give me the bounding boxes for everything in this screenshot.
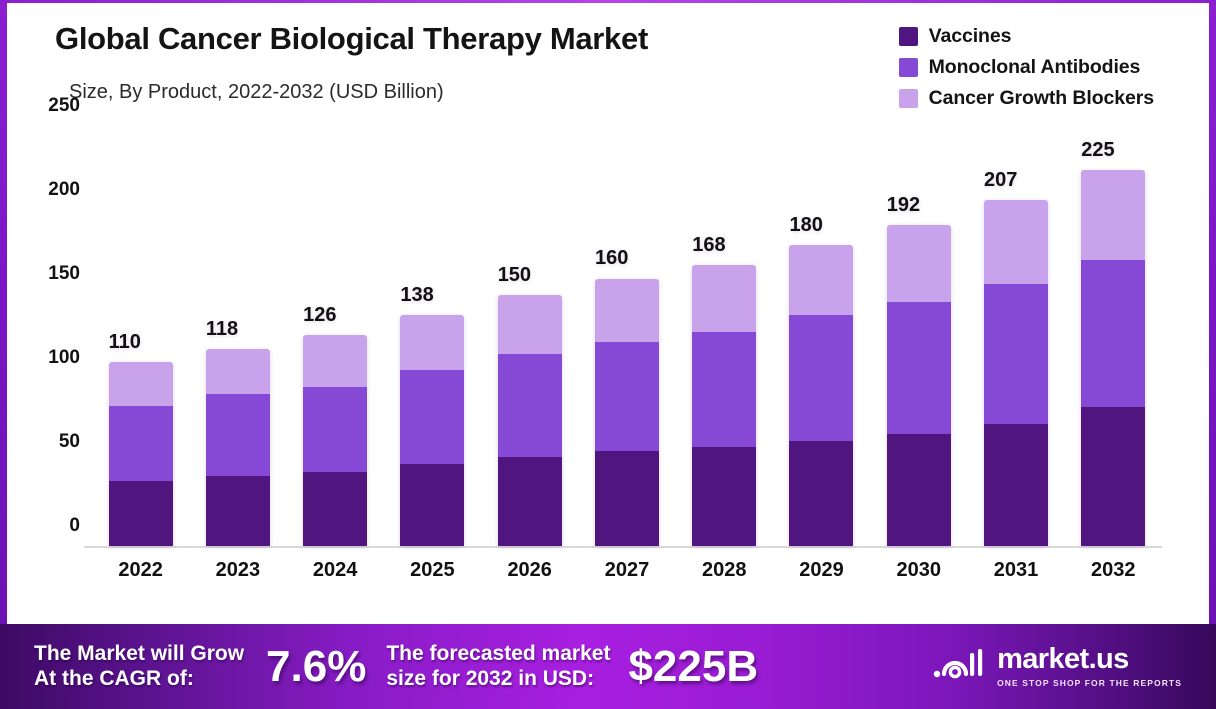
stacked-bar[interactable]: 126: [303, 335, 367, 546]
bar-total-label: 150: [498, 264, 531, 287]
bar-total-label: 180: [789, 214, 822, 237]
y-axis-tick-label: 150: [48, 263, 80, 285]
bar-segment[interactable]: [206, 476, 270, 546]
x-axis-tick-label: 2025: [410, 559, 455, 582]
x-axis-line: [84, 546, 1162, 548]
x-axis-tick-label: 2026: [507, 559, 552, 582]
cagr-label-line2: At the CAGR of:: [34, 667, 244, 692]
bar-segment[interactable]: [984, 200, 1048, 284]
legend-swatch-icon: [899, 58, 918, 77]
bar-total-label: 160: [595, 247, 628, 270]
bar-group[interactable]: 1102022: [92, 128, 189, 546]
cagr-label-line1: The Market will Grow: [34, 642, 244, 667]
bar-segment[interactable]: [692, 332, 756, 447]
cagr-value: 7.6%: [266, 642, 366, 692]
chart-legend: VaccinesMonoclonal AntibodiesCancer Grow…: [899, 25, 1154, 110]
x-axis-tick-label: 2022: [118, 559, 163, 582]
bar-group[interactable]: 1182023: [189, 128, 286, 546]
chart-subtitle: Size, By Product, 2022-2032 (USD Billion…: [69, 81, 444, 104]
chart-title: Global Cancer Biological Therapy Market: [55, 21, 648, 57]
forecast-label-line1: The forecasted market: [386, 642, 610, 667]
x-axis-tick-label: 2023: [216, 559, 261, 582]
bar-group[interactable]: 1802029: [773, 128, 870, 546]
bar-total-label: 168: [692, 234, 725, 257]
stacked-bar[interactable]: 225: [1081, 170, 1145, 546]
bar-total-label: 118: [206, 318, 238, 341]
stacked-bar[interactable]: 118: [206, 349, 270, 546]
legend-label: Vaccines: [929, 25, 1012, 48]
bar-segment[interactable]: [692, 447, 756, 546]
bar-group[interactable]: 1922030: [870, 128, 967, 546]
bar-segment[interactable]: [595, 279, 659, 343]
stacked-bar[interactable]: 207: [984, 200, 1048, 546]
logo-tagline: ONE STOP SHOP FOR THE REPORTS: [997, 679, 1182, 688]
bar-total-label: 126: [303, 304, 336, 327]
bar-segment[interactable]: [789, 441, 853, 546]
bar-segment[interactable]: [303, 472, 367, 546]
x-axis-tick-label: 2032: [1091, 559, 1136, 582]
bar-group[interactable]: 1602027: [578, 128, 675, 546]
market-us-logo[interactable]: market.us ONE STOP SHOP FOR THE REPORTS: [933, 645, 1182, 688]
x-axis-tick-label: 2024: [313, 559, 358, 582]
stacked-bar[interactable]: 160: [595, 278, 659, 546]
legend-label: Cancer Growth Blockers: [929, 87, 1154, 110]
bar-segment[interactable]: [1081, 260, 1145, 407]
bar-segment[interactable]: [1081, 407, 1145, 546]
bar-segment[interactable]: [1081, 170, 1145, 260]
bar-group[interactable]: 1502026: [481, 128, 578, 546]
x-axis-tick-label: 2028: [702, 559, 747, 582]
bar-segment[interactable]: [984, 284, 1048, 424]
bar-segment[interactable]: [887, 225, 951, 302]
bar-segment[interactable]: [109, 406, 173, 481]
bar-group[interactable]: 1382025: [384, 128, 481, 546]
chart-area: Global Cancer Biological Therapy Market …: [7, 3, 1209, 621]
forecast-label: The forecasted market size for 2032 in U…: [386, 642, 610, 692]
y-axis-tick-label: 200: [48, 179, 80, 201]
bar-segment[interactable]: [498, 457, 562, 546]
right-accent-bar: [1209, 0, 1216, 624]
bar-total-label: 110: [109, 331, 141, 354]
bar-segment[interactable]: [595, 451, 659, 546]
bar-segment[interactable]: [789, 245, 853, 315]
stacked-bar[interactable]: 138: [400, 315, 464, 546]
y-axis-tick-label: 250: [48, 95, 80, 117]
bar-group[interactable]: 2072031: [967, 128, 1064, 546]
legend-swatch-icon: [899, 27, 918, 46]
y-axis-tick-label: 0: [69, 515, 80, 537]
y-axis-tick-label: 100: [48, 347, 80, 369]
stacked-bar[interactable]: 180: [789, 245, 853, 546]
legend-label: Monoclonal Antibodies: [929, 56, 1141, 79]
x-axis-tick-label: 2031: [994, 559, 1039, 582]
bar-segment[interactable]: [789, 315, 853, 440]
y-axis-tick-label: 50: [59, 431, 80, 453]
legend-swatch-icon: [899, 89, 918, 108]
bar-segment[interactable]: [887, 302, 951, 434]
legend-item: Cancer Growth Blockers: [899, 87, 1154, 110]
forecast-value: $225B: [628, 642, 758, 692]
bar-segment[interactable]: [206, 394, 270, 476]
footer-banner: The Market will Grow At the CAGR of: 7.6…: [0, 624, 1216, 709]
bar-segment[interactable]: [692, 265, 756, 332]
bar-segment[interactable]: [498, 354, 562, 458]
bar-segment[interactable]: [206, 349, 270, 394]
bar-segment[interactable]: [303, 387, 367, 472]
forecast-label-line2: size for 2032 in USD:: [386, 667, 610, 692]
cagr-label: The Market will Grow At the CAGR of:: [34, 642, 244, 692]
bar-segment[interactable]: [400, 315, 464, 370]
bars-container: 1102022118202312620241382025150202616020…: [92, 128, 1162, 546]
logo-wordmark: market.us: [997, 645, 1182, 674]
left-accent-bar: [0, 0, 7, 624]
stacked-bar[interactable]: 110: [109, 362, 173, 546]
bar-segment[interactable]: [400, 464, 464, 546]
stacked-bar[interactable]: 192: [887, 225, 951, 546]
infographic-page: Global Cancer Biological Therapy Market …: [0, 0, 1216, 709]
bar-segment[interactable]: [498, 295, 562, 354]
bar-group[interactable]: 1262024: [287, 128, 384, 546]
legend-item: Monoclonal Antibodies: [899, 56, 1141, 79]
market-us-logo-text: market.us ONE STOP SHOP FOR THE REPORTS: [997, 645, 1182, 688]
plot-region: 050100150200250 110202211820231262024138…: [92, 128, 1162, 548]
x-axis-tick-label: 2029: [799, 559, 844, 582]
bar-segment[interactable]: [595, 342, 659, 451]
bar-segment[interactable]: [109, 362, 173, 405]
stacked-bar[interactable]: 168: [692, 265, 756, 546]
bar-total-label: 138: [400, 284, 433, 307]
x-axis-tick-label: 2027: [605, 559, 650, 582]
bar-segment[interactable]: [887, 434, 951, 546]
bar-segment[interactable]: [303, 335, 367, 387]
bar-segment[interactable]: [984, 424, 1048, 546]
bar-group[interactable]: 2252032: [1065, 128, 1162, 546]
bar-segment[interactable]: [109, 481, 173, 546]
market-us-logo-icon: [933, 647, 985, 686]
bar-segment[interactable]: [400, 370, 464, 464]
x-axis-tick-label: 2030: [897, 559, 942, 582]
stacked-bar[interactable]: 150: [498, 295, 562, 546]
bar-group[interactable]: 1682028: [676, 128, 773, 546]
bar-total-label: 207: [984, 169, 1017, 192]
bar-total-label: 192: [887, 194, 920, 217]
bar-total-label: 225: [1081, 139, 1114, 162]
legend-item: Vaccines: [899, 25, 1012, 48]
